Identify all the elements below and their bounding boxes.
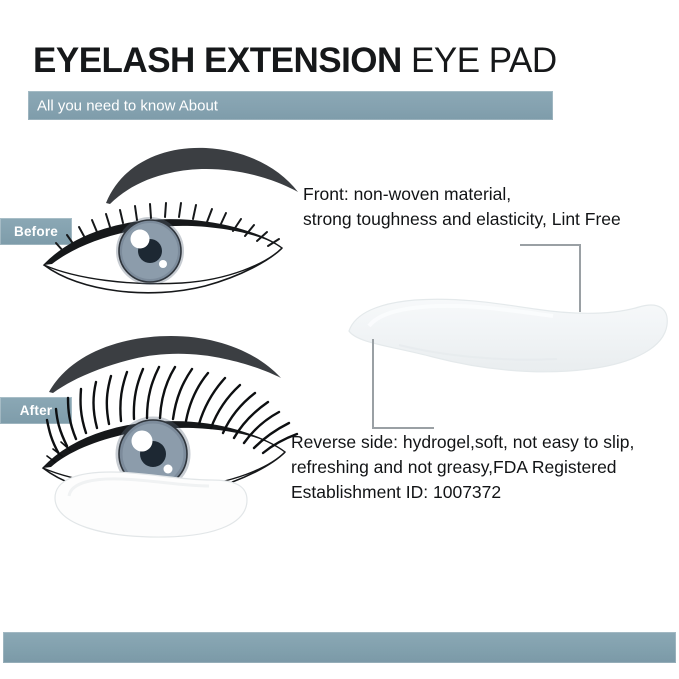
- eyebrow-before: [106, 148, 298, 204]
- subtitle-text: All you need to know About: [37, 97, 218, 114]
- page-title-light: EYE PAD: [402, 41, 557, 80]
- leader-line-reverse-horizontal: [372, 427, 434, 429]
- footer-bar: [3, 632, 676, 663]
- iris-before: [119, 220, 181, 282]
- eye-after-illustration: [25, 330, 330, 540]
- callout-front-line1: Front: non-woven material,: [303, 182, 621, 207]
- callout-reverse-line3: Establishment ID: 1007372: [291, 480, 634, 505]
- subtitle-bar: All you need to know About: [28, 91, 553, 120]
- product-eye-pad: [339, 285, 669, 377]
- eye-before-illustration: [30, 140, 330, 305]
- callout-front: Front: non-woven material, strong toughn…: [303, 182, 621, 232]
- page-title-bold: EYELASH EXTENSION: [33, 41, 402, 80]
- callout-reverse: Reverse side: hydrogel,soft, not easy to…: [291, 430, 634, 505]
- product-eye-pad-shape: [339, 285, 669, 377]
- leader-line-reverse-vertical: [372, 339, 374, 429]
- eyebrow-after: [49, 336, 281, 393]
- infographic-canvas: EYELASH EXTENSION EYE PAD All you need t…: [0, 0, 679, 679]
- callout-front-line2: strong toughness and elasticity, Lint Fr…: [303, 207, 621, 232]
- eye-pad-on-eye: [55, 472, 247, 537]
- callout-reverse-line1: Reverse side: hydrogel,soft, not easy to…: [291, 430, 634, 455]
- callout-reverse-line2: refreshing and not greasy,FDA Registered: [291, 455, 634, 480]
- page-title: EYELASH EXTENSION EYE PAD: [33, 41, 557, 81]
- leader-line-front-horizontal: [520, 244, 581, 246]
